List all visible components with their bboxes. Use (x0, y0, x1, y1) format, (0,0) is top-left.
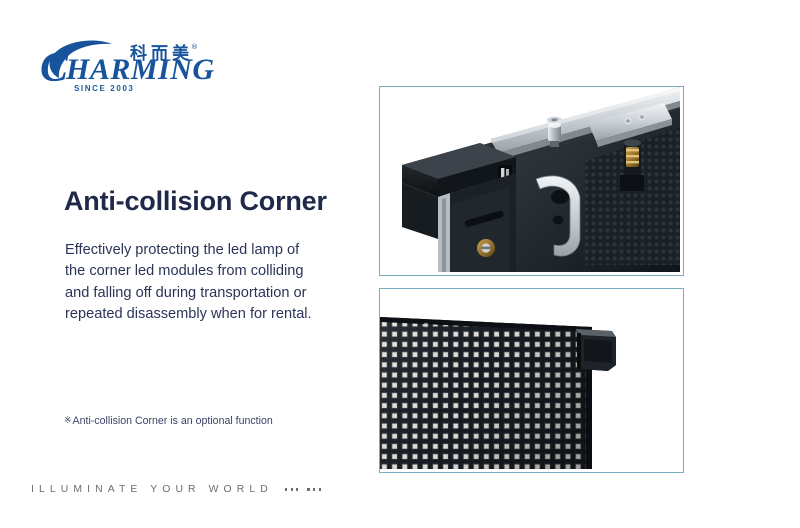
page-title: Anti-collision Corner (64, 186, 327, 217)
dot-group (285, 488, 299, 490)
product-photo-panel-module (379, 288, 684, 473)
dot-icon (291, 488, 293, 490)
dot-group (307, 488, 321, 490)
dot-icon (307, 488, 309, 490)
description-paragraph: Effectively protecting the led lamp of t… (65, 240, 317, 326)
photo-led-cabinet-corner (380, 87, 683, 275)
footer-tagline: ILLUMINATE YOUR WORLD (31, 484, 273, 495)
optional-function-note: ※Anti-collision Corner is an optional fu… (64, 415, 273, 427)
photo-led-module-grid (380, 289, 683, 472)
product-photo-panel-corner (379, 86, 684, 276)
note-mark-icon: ※ (64, 415, 72, 425)
dot-icon (296, 488, 298, 490)
footer-dots (285, 488, 321, 490)
charming-logo: C HARMING 科而美 ® SINCE 2003 (38, 34, 238, 96)
footer-tagline-group: ILLUMINATE YOUR WORLD (31, 484, 321, 495)
logo-registered-icon: ® (191, 43, 198, 51)
logo-since-tagline: SINCE 2003 (74, 84, 134, 93)
dot-icon (319, 488, 321, 490)
slide-canvas: C HARMING 科而美 ® SINCE 2003 Anti-collisio… (0, 0, 800, 528)
dot-icon (285, 488, 287, 490)
note-text: Anti-collision Corner is an optional fun… (73, 415, 273, 427)
dot-icon (313, 488, 315, 490)
logo-initial: C (40, 45, 69, 91)
logo-chinese-name: 科而美 (130, 43, 193, 64)
